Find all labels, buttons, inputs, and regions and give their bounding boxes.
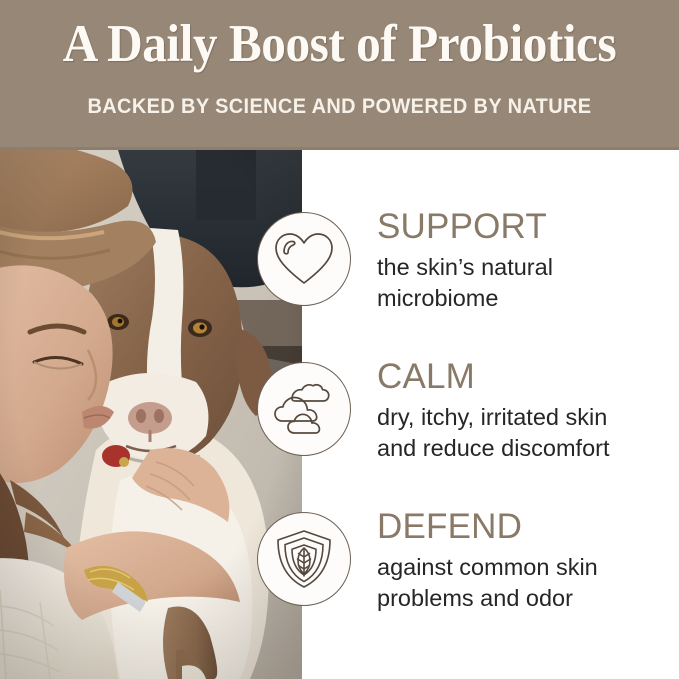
- probiotics-infographic: A Daily Boost of Probiotics BACKED BY SC…: [0, 0, 679, 679]
- heart-icon-glyph: [273, 231, 335, 287]
- shield-leaf-icon-glyph: [274, 528, 334, 590]
- feature-calm-description: dry, itchy, irritated skin and reduce di…: [377, 402, 677, 464]
- heart-icon: [257, 212, 351, 306]
- feature-support-desc-line-1: the skin’s natural: [377, 252, 677, 283]
- page-title: A Daily Boost of Probiotics: [24, 12, 655, 76]
- header-subtitle: BACKED BY SCIENCE AND POWERED BY NATURE: [17, 93, 662, 121]
- feature-calm-desc-line-2: and reduce discomfort: [377, 433, 677, 464]
- feature-support-heading: SUPPORT: [377, 206, 677, 248]
- header-banner: A Daily Boost of Probiotics BACKED BY SC…: [0, 0, 679, 150]
- feature-defend-desc-line-2: problems and odor: [377, 583, 677, 614]
- feature-support-text: SUPPORT the skin’s natural microbiome: [377, 206, 677, 314]
- feature-calm-text: CALM dry, itchy, irritated skin and redu…: [377, 356, 677, 464]
- feature-support-desc-line-2: microbiome: [377, 283, 677, 314]
- feature-defend-desc-line-1: against common skin: [377, 552, 677, 583]
- clouds-icon-glyph: [272, 381, 336, 437]
- clouds-icon: [257, 362, 351, 456]
- shield-leaf-icon: [257, 512, 351, 606]
- feature-defend-description: against common skin problems and odor: [377, 552, 677, 614]
- feature-defend-heading: DEFEND: [377, 506, 677, 548]
- feature-calm-heading: CALM: [377, 356, 677, 398]
- feature-calm-desc-line-1: dry, itchy, irritated skin: [377, 402, 677, 433]
- feature-defend-text: DEFEND against common skin problems and …: [377, 506, 677, 614]
- feature-support-description: the skin’s natural microbiome: [377, 252, 677, 314]
